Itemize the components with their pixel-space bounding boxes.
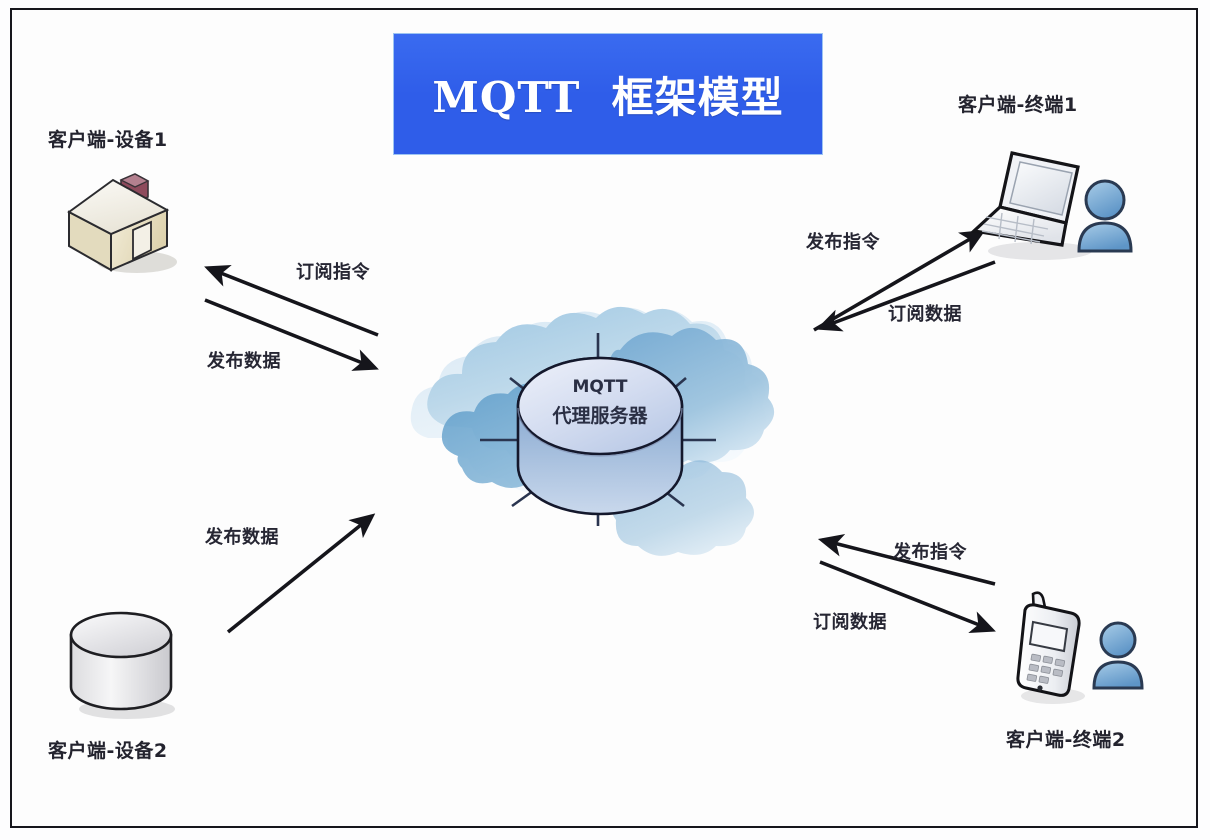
node-label-client-terminal-1: 客户端-终端1 xyxy=(958,90,1078,117)
edge-label-pub-cmd-tr: 发布指令 xyxy=(806,228,880,254)
edge-label-pub-data-tl: 发布数据 xyxy=(207,347,281,373)
edge-label-sub-cmd-tl: 订阅指令 xyxy=(296,258,370,284)
laptop-icon xyxy=(960,145,1140,270)
edge-label-sub-data-br: 订阅数据 xyxy=(813,608,887,634)
house-icon xyxy=(55,158,195,280)
broker-label-line2: 代理服务器 xyxy=(551,404,648,427)
node-label-client-device-2: 客户端-设备2 xyxy=(48,736,168,763)
node-label-client-device-1: 客户端-设备1 xyxy=(48,125,168,152)
edge-label-pub-cmd-br: 发布指令 xyxy=(893,538,967,564)
page-title: MQTT 框架模型 xyxy=(432,64,783,125)
mobile-phone-icon xyxy=(1005,588,1155,713)
edge-label-pub-data-bl: 发布数据 xyxy=(205,523,279,549)
broker-label-line1: MQTT xyxy=(573,377,628,397)
edge-label-sub-data-tr: 订阅数据 xyxy=(888,300,962,326)
node-label-client-terminal-2: 客户端-终端2 xyxy=(1006,725,1126,752)
diagram-canvas: MQTT 框架模型 xyxy=(0,0,1210,840)
avatar xyxy=(1079,181,1131,251)
database-icon xyxy=(55,605,195,725)
title-banner: MQTT 框架模型 xyxy=(393,33,823,155)
mqtt-broker-cloud: MQTT 代理服务器 xyxy=(388,288,808,568)
avatar xyxy=(1094,623,1142,688)
